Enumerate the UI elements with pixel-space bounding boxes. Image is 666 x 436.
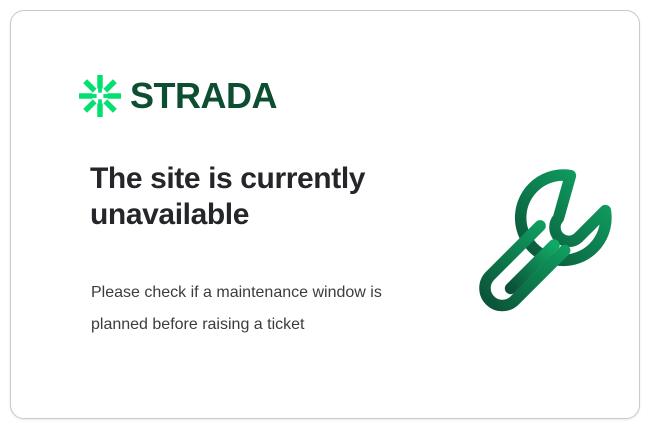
status-description: Please check if a maintenance window is … bbox=[91, 277, 391, 341]
maintenance-illustration bbox=[463, 154, 627, 318]
strada-asterisk-icon bbox=[79, 75, 121, 117]
status-card: STRADA The site is currently unavailable… bbox=[10, 10, 640, 419]
brand-lockup: STRADA bbox=[79, 75, 277, 117]
brand-wordmark: STRADA bbox=[130, 78, 277, 114]
page-title: The site is currently unavailable bbox=[90, 161, 430, 233]
error-page: STRADA The site is currently unavailable… bbox=[0, 0, 666, 436]
wrench-icon bbox=[463, 154, 627, 318]
